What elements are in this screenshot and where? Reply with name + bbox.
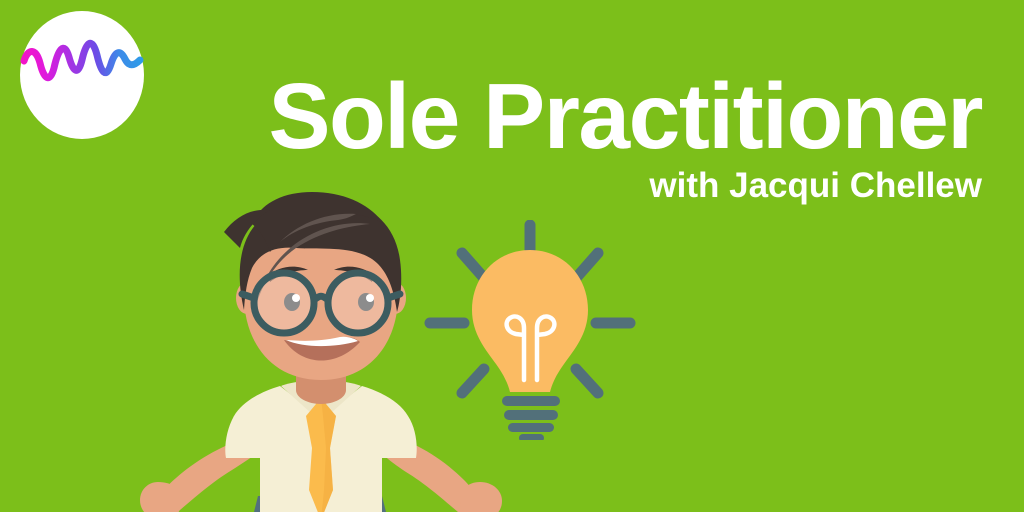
right-eye-highlight bbox=[366, 294, 374, 302]
page-title: Sole Practitioner bbox=[0, 70, 982, 163]
ray-top-right bbox=[576, 253, 598, 278]
glasses-left-temple bbox=[242, 294, 254, 298]
base-bar-1 bbox=[502, 396, 560, 406]
glasses-right-temple bbox=[388, 294, 400, 298]
ray-bottom-left bbox=[462, 369, 484, 393]
left-eye-highlight bbox=[292, 294, 300, 302]
glasses-bridge bbox=[314, 296, 328, 300]
podcast-banner: Sole Practitioner with Jacqui Chellew bbox=[0, 0, 1024, 512]
ray-bottom-right bbox=[576, 369, 598, 393]
base-bar-4 bbox=[519, 434, 544, 440]
base-bar-3 bbox=[508, 423, 554, 432]
logo-circle-background bbox=[20, 11, 144, 139]
lightbulb-base bbox=[502, 396, 560, 440]
lightbulb-glass bbox=[472, 250, 588, 392]
waveform-logo bbox=[18, 10, 146, 140]
base-bar-2 bbox=[504, 410, 558, 420]
ray-top-left bbox=[462, 253, 484, 278]
lightbulb-illustration bbox=[420, 220, 652, 440]
